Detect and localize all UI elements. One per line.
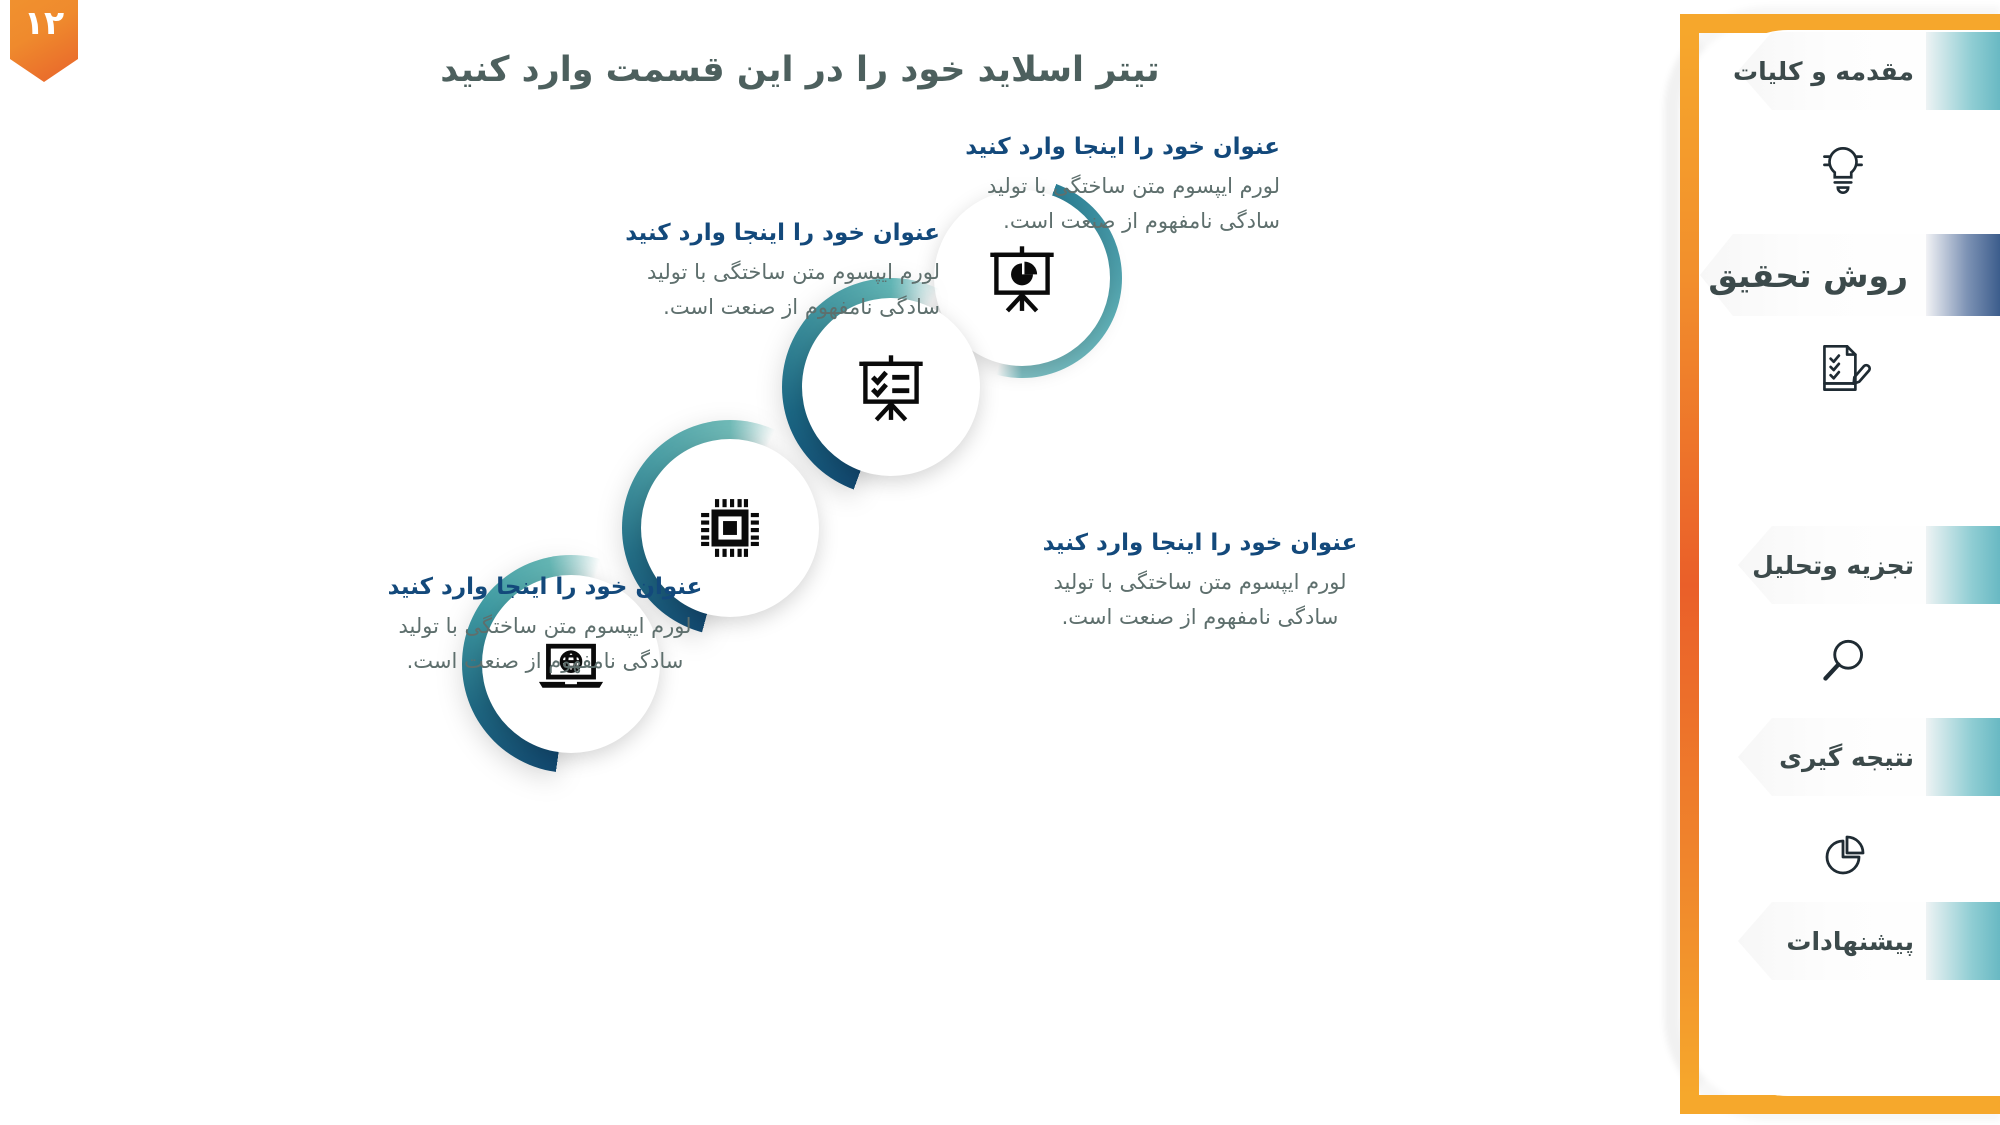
step-text-1: عنوان خود را اینجا وارد کنید لورم ایپسوم… (960, 132, 1280, 238)
step-text-2: عنوان خود را اینجا وارد کنید لورم ایپسوم… (640, 218, 940, 324)
microchip-icon (693, 491, 767, 565)
step-text-3: عنوان خود را اینجا وارد کنید لورم ایپسوم… (1040, 528, 1360, 634)
sidebar-item-label: نتیجه گیری (1738, 743, 2000, 772)
clipboard-pencil-icon (1804, 330, 1882, 408)
step-heading-2: عنوان خود را اینجا وارد کنید (640, 218, 940, 249)
sidebar-item-moghadame[interactable]: مقدمه و کلیات (1738, 32, 2000, 110)
step-body-1: لورم ایپسوم متن ساختگی با تولید سادگی نا… (960, 169, 1280, 238)
pie-chart-icon (1804, 816, 1882, 894)
step-heading-4: عنوان خود را اینجا وارد کنید (385, 572, 705, 603)
step-text-4: عنوان خود را اینجا وارد کنید لورم ایپسوم… (385, 572, 705, 678)
presentation-checklist-icon (852, 348, 930, 426)
sidebar-item-tajzie[interactable]: تجزیه وتحلیل (1738, 526, 2000, 604)
lightbulb-icon (1804, 130, 1882, 208)
sidebar-item-label: روش تحقیق (1700, 256, 2000, 295)
sidebar-item-pishnahad[interactable]: پیشنهادات (1738, 902, 2000, 980)
step-body-2: لورم ایپسوم متن ساختگی با تولید سادگی نا… (640, 255, 940, 324)
step-body-3: لورم ایپسوم متن ساختگی با تولید سادگی نا… (1040, 565, 1360, 634)
sidebar-item-label: تجزیه وتحلیل (1738, 551, 2000, 580)
magnifier-icon (1804, 624, 1882, 702)
sidebar-item-natije[interactable]: نتیجه گیری (1738, 718, 2000, 796)
page-title: تیتر اسلاید خود را در این قسمت وارد کنید (0, 50, 1600, 90)
slide-number-text: ۱۲ (24, 6, 64, 39)
sidebar-item-ravesh[interactable]: روش تحقیق (1700, 234, 2000, 316)
step-heading-1: عنوان خود را اینجا وارد کنید (960, 132, 1280, 163)
sidebar-item-label: مقدمه و کلیات (1738, 57, 2000, 86)
step-heading-3: عنوان خود را اینجا وارد کنید (1040, 528, 1360, 559)
step-body-4: لورم ایپسوم متن ساختگی با تولید سادگی نا… (385, 609, 705, 678)
sidebar-item-label: پیشنهادات (1738, 927, 2000, 956)
navigation-rail: مقدمه و کلیات روش تحقیق (1640, 0, 2000, 1125)
